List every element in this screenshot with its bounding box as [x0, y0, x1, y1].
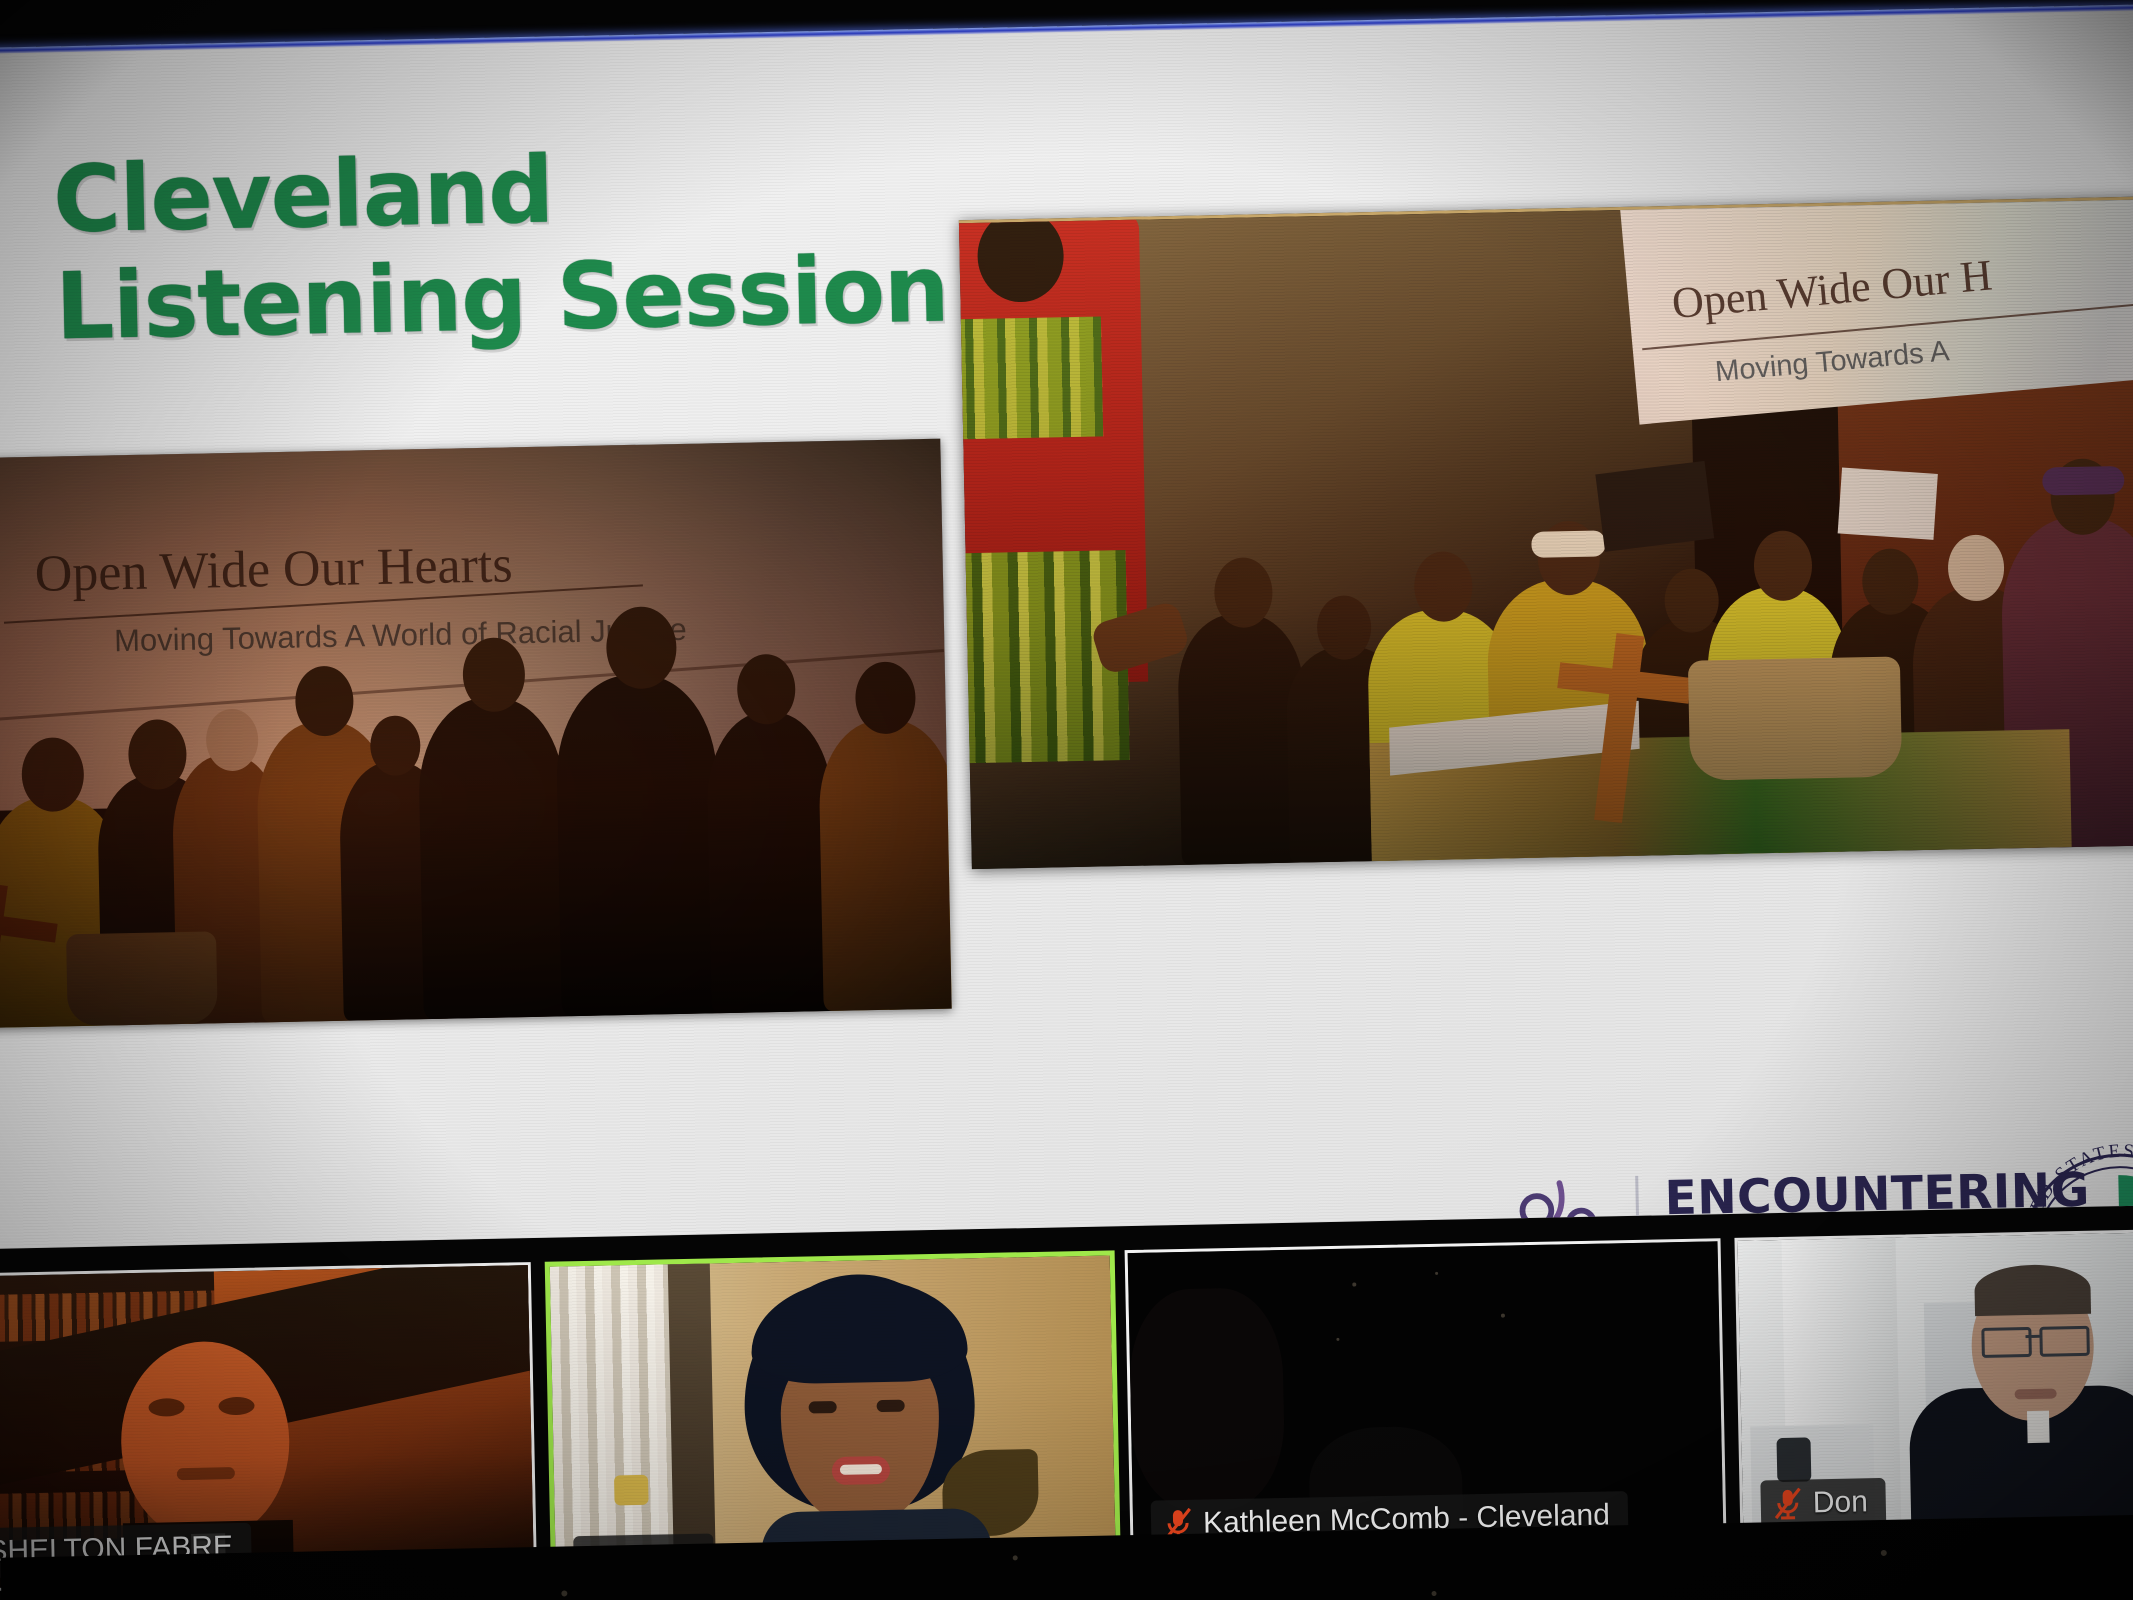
encountering-mark-icon: [1513, 1176, 1611, 1248]
screenshot-root: Cleveland Listening Session Open Wide Ou…: [0, 0, 2133, 1600]
photo-right-lighting: [959, 199, 2133, 869]
participant-tile-shelton-fabre[interactable]: SHELTON FABRE: [0, 1262, 537, 1591]
slide-title: Cleveland Listening Session: [52, 129, 956, 360]
captured-monitor: Cleveland Listening Session Open Wide Ou…: [0, 4, 2133, 1600]
participant-name: Don: [1812, 1485, 1868, 1520]
slide-title-line1: Cleveland: [52, 129, 954, 254]
participant-tile-don[interactable]: Don: [1734, 1229, 2133, 1544]
photo-left-lighting2: [0, 439, 952, 1029]
slide-photo-choir-left: Open Wide Our Hearts Moving Towards A Wo…: [0, 439, 952, 1029]
mic-muted-icon: [1774, 1488, 1801, 1521]
logo-divider: [1635, 1176, 1640, 1249]
participant-tile-kathleen-mccomb[interactable]: Kathleen McComb - Cleveland: [1125, 1238, 1727, 1564]
shared-slide[interactable]: Cleveland Listening Session Open Wide Ou…: [0, 10, 2133, 1249]
slide-photo-choir-right: Open Wide Our H Moving Towards A: [959, 196, 2133, 869]
slide-title-line2: Listening Session: [54, 236, 956, 361]
